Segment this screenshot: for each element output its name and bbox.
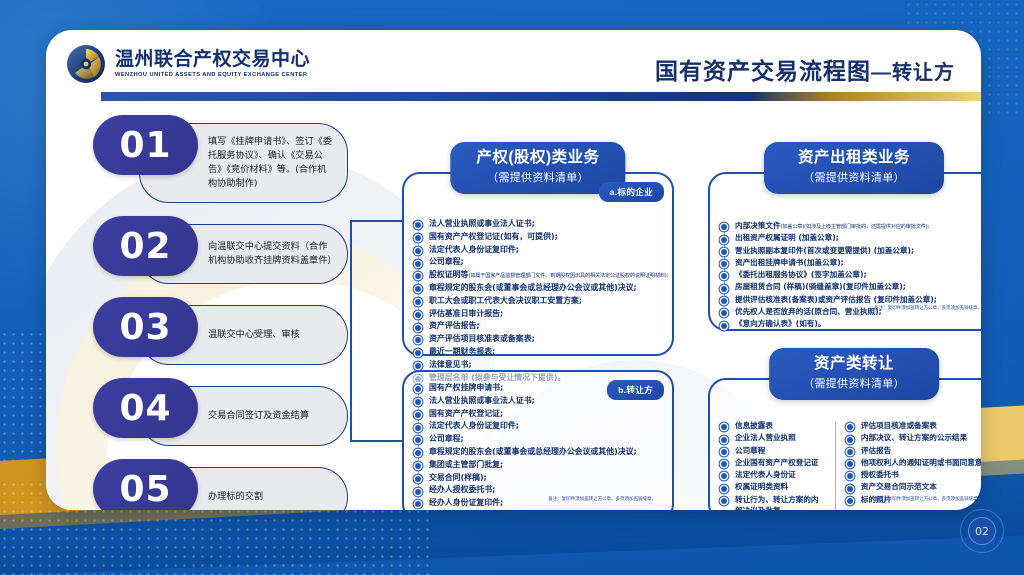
panel-asset-transfer-note: 备注：复印件须加盖转让方公章，多页须加盖骑缝章。 [874, 496, 981, 502]
list-item: 企业法人营业执照 [720, 432, 825, 444]
list-item: 企业国有资产产权登记证 [720, 457, 825, 469]
list-item: 最近一期财务报表; [414, 346, 664, 359]
list-item-fineprint: (如属于国家产品监督管理部门文件、到期股权因出具的相关法定公证股权的说明证明材料… [468, 273, 668, 279]
list-item: 转让行为、转让方案的内部决议及批复 [720, 494, 825, 510]
list-item: 国有资产产权登记证(如有，可提供); [414, 231, 664, 244]
process-steps: 填写《挂牌申请书》、签订《委托服务协议》、确认《交易公告》《竞价材料》等。(合作… [93, 115, 348, 510]
transferor-requirements-list: 国有产权挂牌申请书; 法人营业执照或事业法人证书; 国有资产产权登记证; 法定代… [414, 382, 664, 510]
step-text: 温联交中心受理、审核 [208, 328, 300, 342]
step-text: 填写《挂牌申请书》、签订《委托服务协议》、确认《交易公告》《竞价材料》等。(合作… [208, 135, 335, 190]
page-number: 02 [968, 517, 996, 545]
panel-lease-body: 内部决策文件(加盖公章)(如涉及上级主管部门审批的，还需提供对应的审批文件); … [720, 220, 981, 315]
list-item: 集团或主管部门批复; [414, 459, 664, 472]
step-number: 05 [93, 459, 198, 510]
panel-asset-transfer-header: 资产类转让 （需提供资料清单） [769, 348, 939, 400]
step-item[interactable]: 交易合同签订及资金结算 04 [93, 378, 348, 450]
step-number: 01 [93, 115, 198, 175]
step-text: 向温联交中心提交资料（合作机构协助收齐挂牌资料盖章件） [208, 240, 335, 268]
panel-equity-title: 产权(股权)类业务 [476, 149, 599, 167]
connector-horizontal-a [350, 220, 404, 222]
list-item: 公司章程; [414, 433, 664, 446]
header-divider [46, 92, 981, 101]
list-item: 资产评估项目核准表或备案表; [414, 333, 664, 346]
brand-name-en: WENZHOU UNITED ASSETS AND EQUITY EXCHANG… [115, 72, 314, 78]
list-item: 信息披露表 [720, 420, 825, 432]
list-item: 房屋租赁合同 (样稿)(骑缝盖章)(复印件加盖公章); [720, 281, 981, 293]
panel-asset-transfer-subtitle: （需提供资料清单） [803, 375, 905, 391]
list-item: 评估项目核准或备案表 [846, 420, 981, 432]
list-item: 公司章程 [720, 445, 825, 457]
list-item: 资产交易合同示范文本 [846, 481, 981, 493]
lease-requirements-list: 内部决策文件(加盖公章)(如涉及上级主管部门审批的，还需提供对应的审批文件); … [720, 220, 981, 331]
list-item: 章程规定的股东会(或董事会或总经理办公会议或其他)决议; [414, 282, 664, 295]
list-item: 法定代表人身份证 [720, 469, 825, 481]
header-divider-gold [746, 92, 981, 101]
step-item[interactable]: 办理标的交割 05 [93, 459, 348, 510]
panel-transferor-body: 国有产权挂牌申请书; 法人营业执照或事业法人证书; 国有资产产权登记证; 法定代… [414, 382, 664, 506]
panel-equity-business: 产权(股权)类业务 （需提供资料清单） a.标的企业 法人营业执照或事业法人证书… [402, 172, 674, 356]
list-item: 评估报告 [846, 445, 981, 457]
panel-lease-header: 资产出租类业务 （需提供资料清单） [764, 142, 944, 194]
list-item: 《意向方确认表》(如有)。 [720, 318, 981, 330]
list-item: 《委托出租服务协议》(签字加盖公章); [720, 269, 981, 281]
list-item: 职工大会或职工代表大会决议职工安置方案; [414, 295, 664, 308]
panel-transferor: b.转让方 国有产权挂牌申请书; 法人营业执照或事业法人证书; 国有资产产权登记… [402, 370, 674, 510]
panel-equity-subtitle: （需提供资料清单） [476, 169, 599, 185]
connector-horizontal-b [350, 440, 404, 442]
list-item: 授权委托书 [846, 469, 981, 481]
list-item: 出租资产权属证明 (加盖公章); [720, 232, 981, 244]
list-item: 资产评估报告; [414, 320, 664, 333]
list-item: 国有产权挂牌申请书; [414, 382, 664, 395]
list-item: 他项权利人的通知证明或书面同意意见 [846, 457, 981, 469]
panel-transferor-note: 备注：复印件须加盖转让方公章，多页须加盖骑缝章。 [548, 496, 656, 502]
list-item: 股权证明等(如属于国家产品监督管理部门文件、到期股权因出具的相关法定公证股权的说… [414, 269, 664, 282]
list-item: 法定代表人身份证复印件; [414, 420, 664, 433]
content-card: 温州联合产权交易中心 WENZHOU UNITED ASSETS AND EQU… [46, 30, 981, 510]
list-item: 权属证明类资料 [720, 481, 825, 493]
step-item[interactable]: 向温联交中心提交资料（合作机构协助收齐挂牌资料盖章件） 02 [93, 216, 348, 288]
list-item: 评估基准日审计报告; [414, 308, 664, 321]
brand-logo: 温州联合产权交易中心 WENZHOU UNITED ASSETS AND EQU… [66, 44, 310, 84]
swirl-logo-icon [66, 44, 106, 84]
list-item-fineprint: (加盖公章)(如涉及上级主管部门审批的，还需提供对应的审批文件); [781, 224, 930, 230]
list-item: 法定代表人身份证复印件; [414, 244, 664, 257]
column-separator [835, 422, 836, 510]
tag-target-enterprise: a.标的企业 [599, 182, 664, 202]
panel-lease-title: 资产出租类业务 [798, 149, 910, 167]
step-text: 办理标的交割 [208, 490, 263, 504]
panel-equity-body: 法人营业执照或事业法人证书; 国有资产产权登记证(如有，可提供); 法定代表人身… [414, 218, 664, 340]
list-item: 内部决策文件(加盖公章)(如涉及上级主管部门审批的，还需提供对应的审批文件); [720, 220, 981, 232]
list-item: 内部决议、转让方案的公示结果 [846, 432, 981, 444]
list-item: 法人营业执照或事业法人证书; [414, 395, 664, 408]
list-item: 公司章程; [414, 256, 664, 269]
step-item[interactable]: 填写《挂牌申请书》、签订《委托服务协议》、确认《交易公告》《竞价材料》等。(合作… [93, 115, 348, 207]
list-item: 国有资产产权登记证; [414, 408, 664, 421]
panel-asset-transfer: 资产类转让 （需提供资料清单） 信息披露表 企业法人营业执照 公司章程 企业国有… [708, 378, 981, 510]
list-item: 法人营业执照或事业法人证书; [414, 218, 664, 231]
step-number: 03 [93, 297, 198, 357]
equity-requirements-list: 法人营业执照或事业法人证书; 国有资产产权登记证(如有，可提供); 法定代表人身… [414, 218, 664, 384]
page-title-main: 国有资产交易流程图 [655, 58, 871, 84]
panel-lease-note: 备注：复印件须加盖转让方公章，多页须加盖骑缝章。 [874, 305, 981, 311]
step-text: 交易合同签订及资金结算 [208, 409, 309, 423]
panel-asset-transfer-title: 资产类转让 [803, 355, 905, 373]
header-divider-blue [101, 92, 821, 101]
list-item: 资产出租挂牌申请书(加盖公章); [720, 257, 981, 269]
list-item: 营业执照副本复印件(首次或变更需提供) (加盖公章); [720, 245, 981, 257]
brand-name-cn: 温州联合产权交易中心 [115, 50, 310, 70]
panel-asset-transfer-body: 信息披露表 企业法人营业执照 公司章程 企业国有资产产权登记证 法定代表人身份证… [720, 420, 981, 506]
panel-lease-subtitle: （需提供资料清单） [798, 169, 910, 185]
step-number: 04 [93, 378, 198, 438]
connector-vertical-center [350, 220, 352, 442]
panel-asset-lease: 资产出租类业务 （需提供资料清单） 内部决策文件(加盖公章)(如涉及上级主管部门… [708, 172, 981, 331]
step-number: 02 [93, 216, 198, 276]
asset-transfer-list-left: 信息披露表 企业法人营业执照 公司章程 企业国有资产产权登记证 法定代表人身份证… [720, 420, 825, 510]
step-item[interactable]: 温联交中心受理、审核 03 [93, 297, 348, 369]
list-item: 交易合同(样稿); [414, 472, 664, 485]
card-header: 温州联合产权交易中心 WENZHOU UNITED ASSETS AND EQU… [46, 30, 981, 100]
page-title: 国有资产交易流程图—转让方 [655, 52, 955, 86]
list-item: 章程规定的股东会(或董事会或总经理办公会议或其他)决议; [414, 446, 664, 459]
page-title-sub: —转让方 [871, 62, 955, 84]
